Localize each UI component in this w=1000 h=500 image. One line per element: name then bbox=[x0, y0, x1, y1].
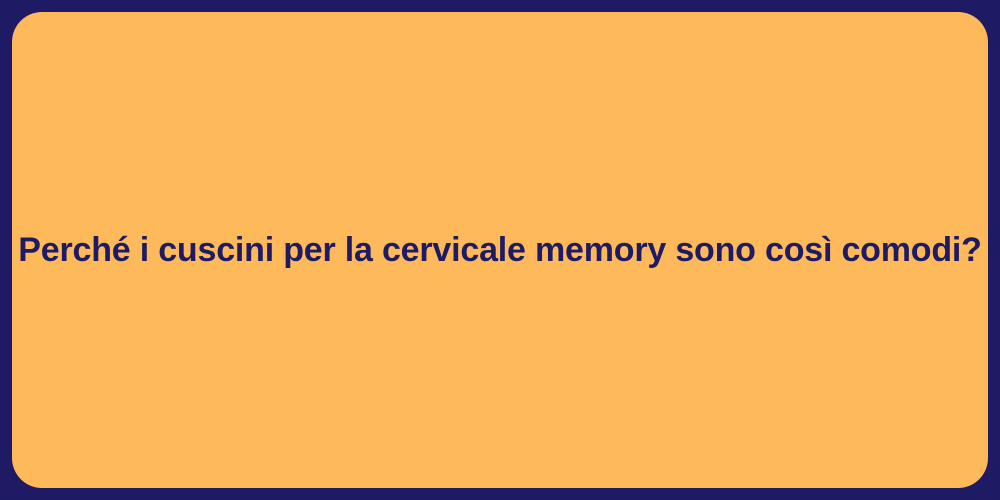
banner-card: Perché i cuscini per la cervicale memory… bbox=[12, 12, 988, 488]
banner-frame: Perché i cuscini per la cervicale memory… bbox=[0, 0, 1000, 500]
headline-text: Perché i cuscini per la cervicale memory… bbox=[18, 229, 981, 272]
